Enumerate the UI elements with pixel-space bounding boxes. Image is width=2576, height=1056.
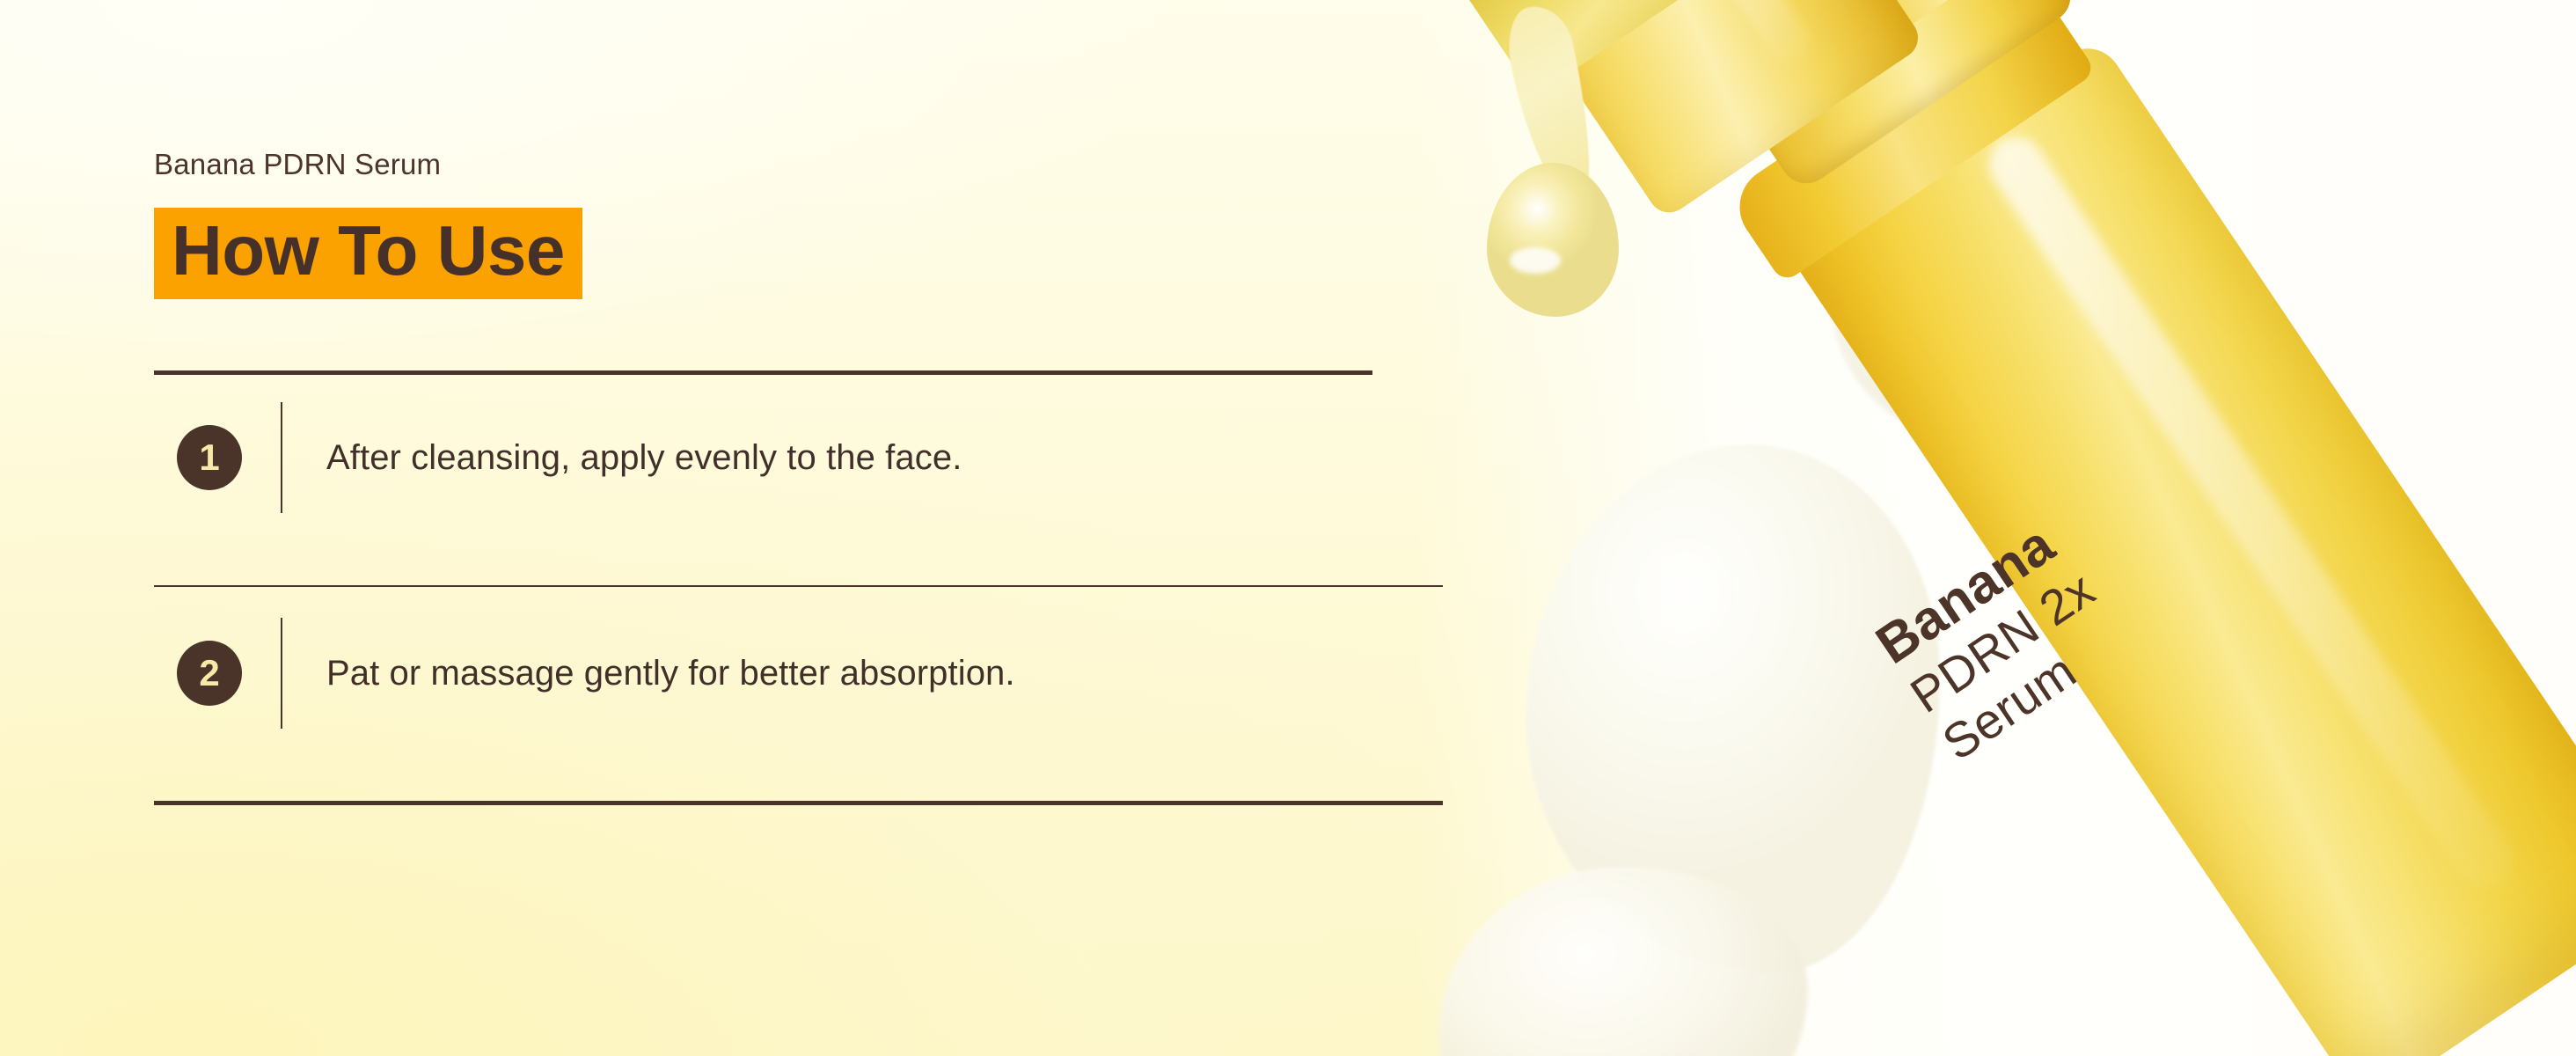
product-name-eyebrow: Banana PDRN Serum <box>154 148 441 181</box>
page-title: How To Use <box>154 208 582 299</box>
how-to-use-banner: adix Banana PDRN 2x Serum Banana PDRN Se… <box>0 0 2576 1056</box>
step-vertical-divider <box>281 618 282 729</box>
step-text: After cleansing, apply evenly to the fac… <box>326 438 962 478</box>
step-number-badge: 1 <box>177 425 242 490</box>
page-title-text: How To Use <box>154 208 582 299</box>
content-column: Banana PDRN Serum How To Use 1 After cle… <box>154 0 1474 1056</box>
divider-middle <box>154 585 1443 587</box>
step-row-1: 1 After cleansing, apply evenly to the f… <box>154 400 962 515</box>
divider-bottom <box>154 801 1443 805</box>
product-bottle-image: Banana PDRN 2x Serum <box>1372 0 2576 1056</box>
step-text: Pat or massage gently for better absorpt… <box>326 654 1015 693</box>
serum-droplet <box>1487 163 1619 317</box>
step-number-badge: 2 <box>177 641 242 706</box>
divider-top <box>154 370 1372 375</box>
step-row-2: 2 Pat or massage gently for better absor… <box>154 616 1015 730</box>
step-vertical-divider <box>281 402 282 513</box>
